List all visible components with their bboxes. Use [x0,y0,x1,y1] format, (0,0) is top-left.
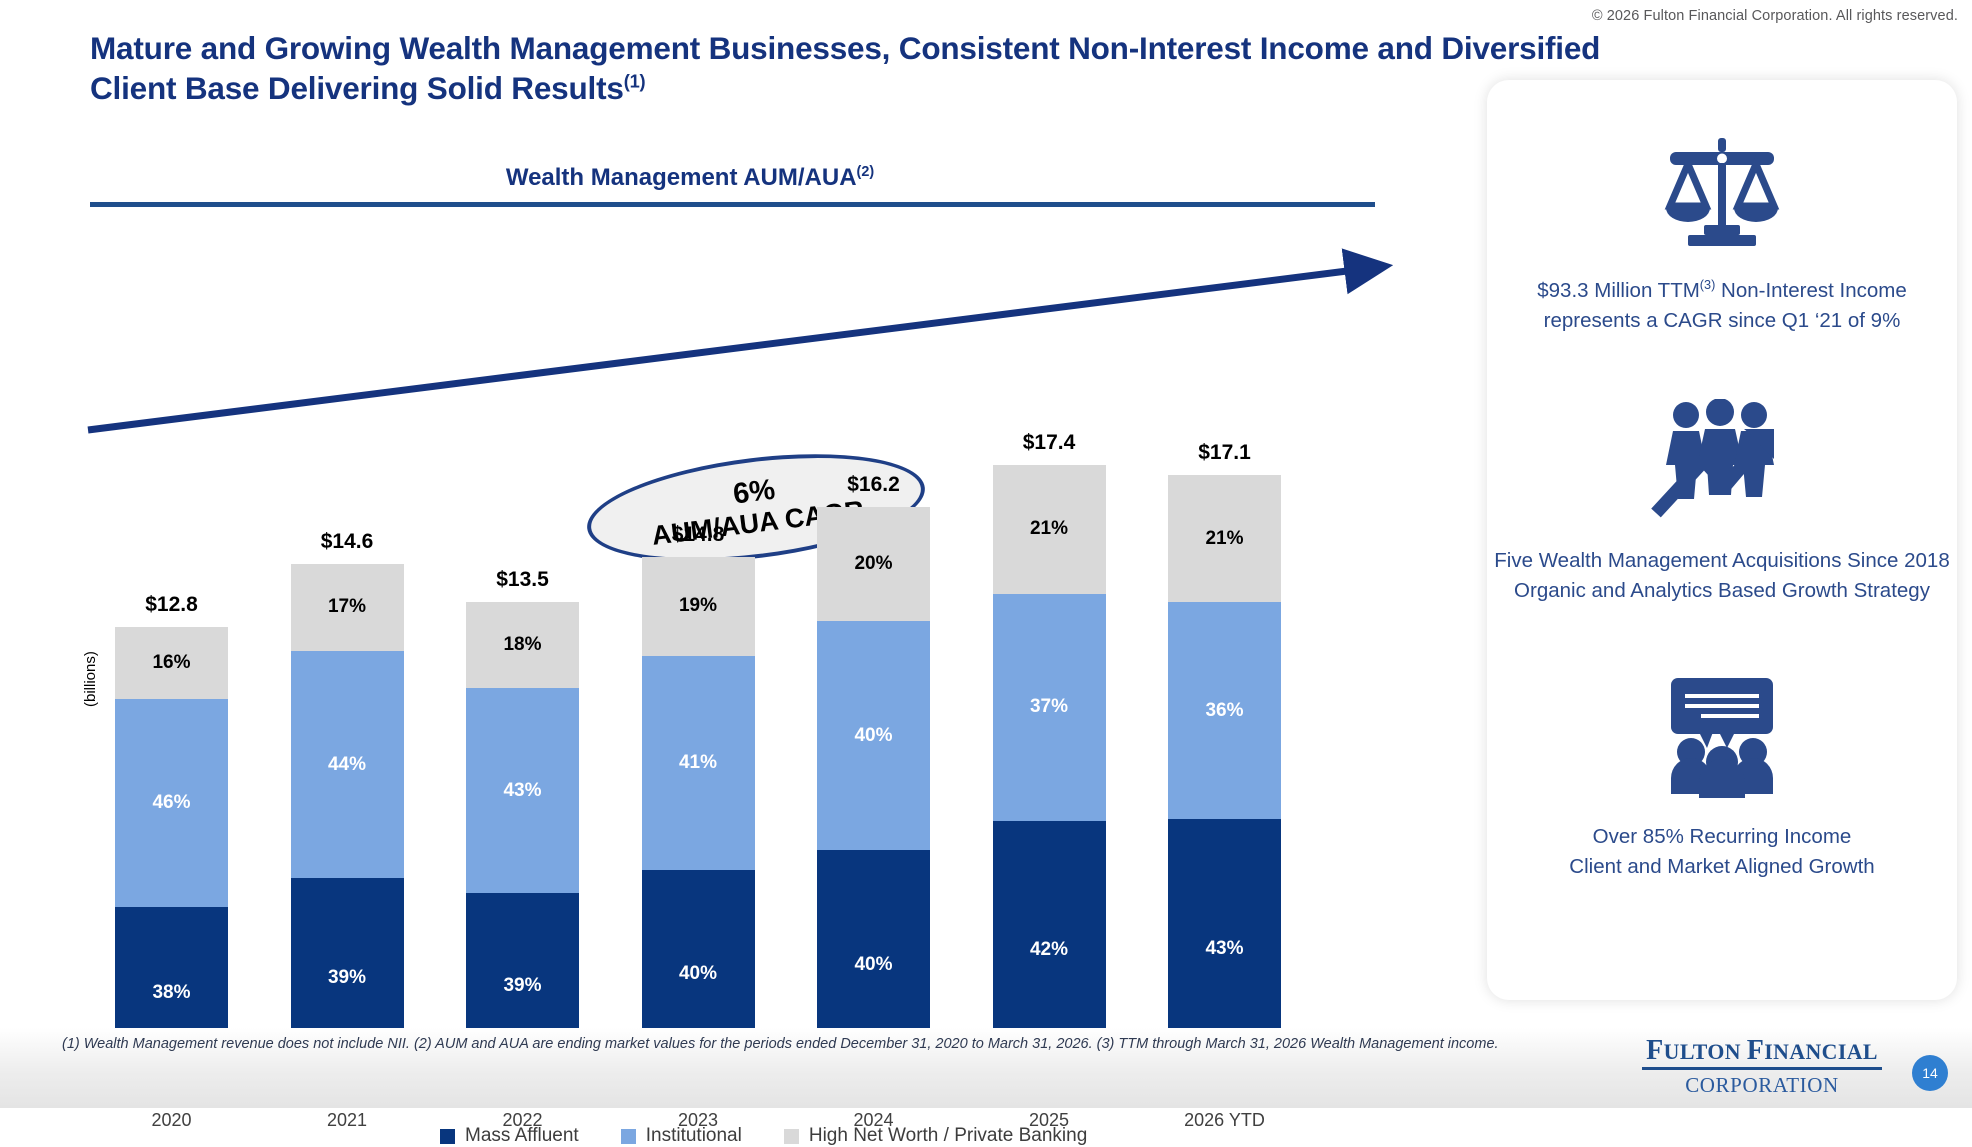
legend-item-high: High Net Worth / Private Banking [784,1125,1087,1147]
highlights-card: $93.3 Million TTM(3) Non-Interest Income… [1487,80,1957,1000]
bar-total-label: $17.1 [1168,441,1281,465]
y-axis-label: (billions) [82,651,99,707]
chart-plot-area: (billions) 6% AUM/AUA CAGR [0,210,1470,1010]
bar-segment-label: 46% [152,792,190,814]
highlight-caption-1: $93.3 Million TTM(3) Non-Interest Income… [1487,276,1957,335]
bar-2026-ytd: 21%36%43% [1168,475,1281,1079]
highlight-1-footnote-marker: (3) [1700,277,1716,292]
bar-2022: 18%43%39% [466,602,579,1079]
legend-label: Mass Affluent [465,1125,579,1147]
bar-segment-label: 42% [1030,939,1068,961]
slide: © 2026 Fulton Financial Corporation. All… [0,0,1972,1108]
highlight-caption-3: Over 85% Recurring Income Client and Mar… [1487,822,1957,881]
bar-segment-label: 19% [679,595,717,617]
bar-total-label: $14.8 [642,523,755,547]
highlight-1-line2: represents a CAGR since Q1 ‘21 of 9% [1544,309,1901,332]
highlight-1-line1-a: $93.3 Million TTM [1537,279,1700,302]
bar-segment-hnw: 18% [466,602,579,688]
highlight-caption-2: Five Wealth Management Acquisitions Sinc… [1487,546,1957,605]
bar-segment-inst: 41% [642,656,755,870]
chart-legend: Mass AffluentInstitutionalHigh Net Worth… [440,1125,1087,1147]
chart-title-text: Wealth Management AUM/AUA [506,164,857,191]
chart-title-rule [90,202,1375,207]
highlight-3-line2: Client and Market Aligned Growth [1569,855,1874,878]
bar-total-label: $12.8 [115,593,228,617]
chart-title: Wealth Management AUM/AUA(2) [0,164,1380,192]
bar-segment-label: 20% [854,553,892,575]
bar-segment-inst: 40% [817,621,930,850]
bar-total-label: $17.4 [993,431,1106,455]
bar-segment-hnw: 21% [993,465,1106,594]
legend-swatch [440,1129,455,1144]
bar-segment-label: 38% [152,982,190,1004]
speech-bubble-people-icon [1487,662,1957,812]
bar-segment-hnw: 19% [642,557,755,656]
page-title-line-2: Client Base Delivering Solid Results [90,70,624,106]
x-axis-tick-2021: 2021 [267,1110,427,1131]
bar-segment-label: 37% [1030,696,1068,718]
people-growth-chart-icon [1487,386,1957,536]
logo-line-2: CORPORATION [1642,1073,1882,1098]
bar-segment-inst: 46% [115,699,228,907]
bar-2023: 19%41%40% [642,557,755,1079]
legend-item-mass: Mass Affluent [440,1125,579,1147]
x-axis-tick-2020: 2020 [92,1110,252,1131]
bar-segment-inst: 37% [993,594,1106,821]
chart-title-footnote-marker: (2) [857,164,875,180]
bar-segment-label: 40% [854,954,892,976]
legend-swatch [784,1129,799,1144]
bar-segment-label: 39% [328,967,366,989]
bar-segment-inst: 43% [466,688,579,893]
legend-item-institutional: Institutional [621,1125,742,1147]
bar-segment-label: 18% [503,634,541,656]
bar-segment-label: 39% [503,975,541,997]
highlight-item-1: $93.3 Million TTM(3) Non-Interest Income… [1487,116,1957,335]
bar-2020: 16%46%38% [115,627,228,1079]
company-logo: FULTON FINANCIAL CORPORATION [1642,1036,1882,1098]
bar-segment-label: 21% [1205,528,1243,550]
highlight-2-line1: Five Wealth Management Acquisitions Sinc… [1494,549,1949,572]
highlight-3-line1: Over 85% Recurring Income [1593,825,1852,848]
highlight-item-3: Over 85% Recurring Income Client and Mar… [1487,662,1957,881]
bar-segment-label: 43% [1205,938,1243,960]
copyright-notice: © 2026 Fulton Financial Corporation. All… [1592,8,1958,24]
highlight-2-line2: Organic and Analytics Based Growth Strat… [1514,579,1930,602]
bar-segment-label: 17% [328,596,366,618]
x-axis-tick-2026-ytd: 2026 YTD [1145,1110,1305,1131]
bar-segment-hnw: 21% [1168,475,1281,602]
legend-label: High Net Worth / Private Banking [809,1125,1087,1147]
bar-segment-label: 41% [679,752,717,774]
bar-segment-inst: 36% [1168,602,1281,819]
bar-segment-label: 36% [1205,700,1243,722]
bar-segment-label: 40% [854,725,892,747]
bar-total-label: $13.5 [466,568,579,592]
bar-segment-hnw: 20% [817,507,930,621]
highlight-item-2: Five Wealth Management Acquisitions Sinc… [1487,386,1957,605]
bar-segment-label: 43% [503,780,541,802]
bar-total-label: $14.6 [291,530,404,554]
footnotes: (1) Wealth Management revenue does not i… [62,1036,1562,1052]
bar-segment-hnw: 16% [115,627,228,699]
balance-scale-icon [1487,116,1957,266]
bar-total-label: $16.2 [817,473,930,497]
bar-segment-label: 21% [1030,518,1068,540]
bar-2024: 20%40%40% [817,507,930,1079]
chart-panel: Wealth Management AUM/AUA(2) (billions) … [0,150,1470,1010]
bar-segment-inst: 44% [291,651,404,878]
bar-2025: 21%37%42% [993,465,1106,1079]
page-number-badge: 14 [1912,1055,1948,1091]
legend-label: Institutional [646,1125,742,1147]
page-title-footnote-marker: (1) [624,71,646,92]
logo-line-1: FULTON FINANCIAL [1642,1036,1882,1070]
highlight-1-line1-b: Non-Interest Income [1715,279,1906,302]
page-title-line-1: Mature and Growing Wealth Management Bus… [90,30,1600,66]
bar-2021: 17%44%39% [291,564,404,1079]
bar-segment-label: 44% [328,754,366,776]
bar-segment-hnw: 17% [291,564,404,652]
bar-segment-label: 40% [679,963,717,985]
bar-segment-label: 16% [152,652,190,674]
legend-swatch [621,1129,636,1144]
